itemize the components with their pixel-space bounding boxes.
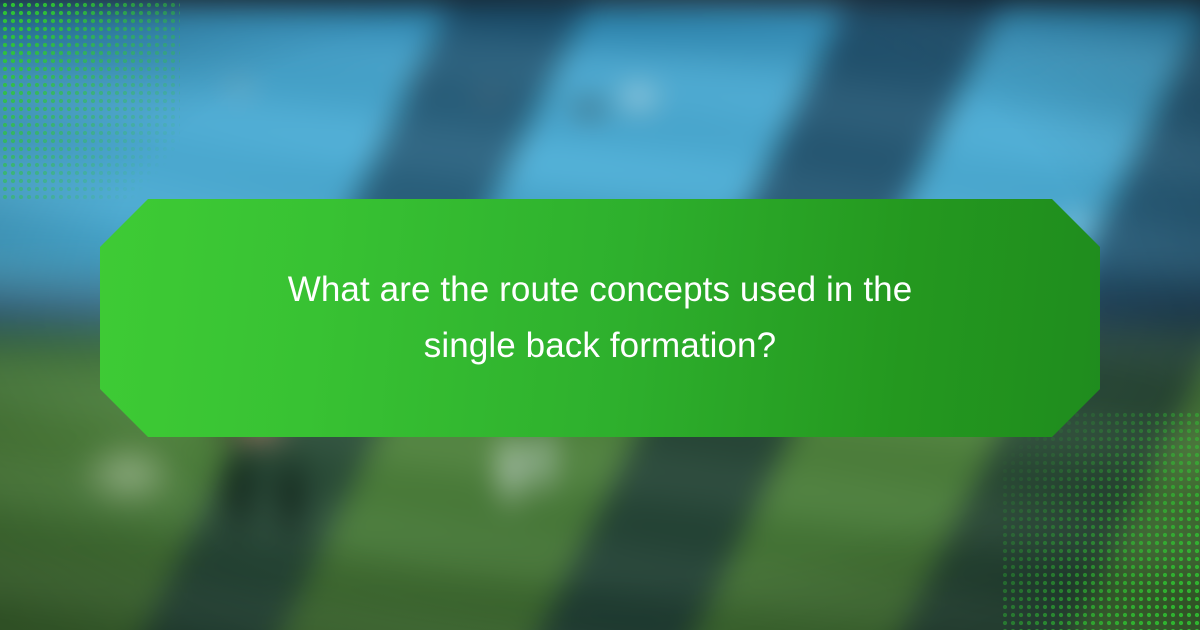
question-card: What are the route concepts used in the … xyxy=(100,199,1100,437)
screenshot-stage: What are the route concepts used in the … xyxy=(0,0,1200,630)
question-text: What are the route concepts used in the … xyxy=(220,262,980,374)
